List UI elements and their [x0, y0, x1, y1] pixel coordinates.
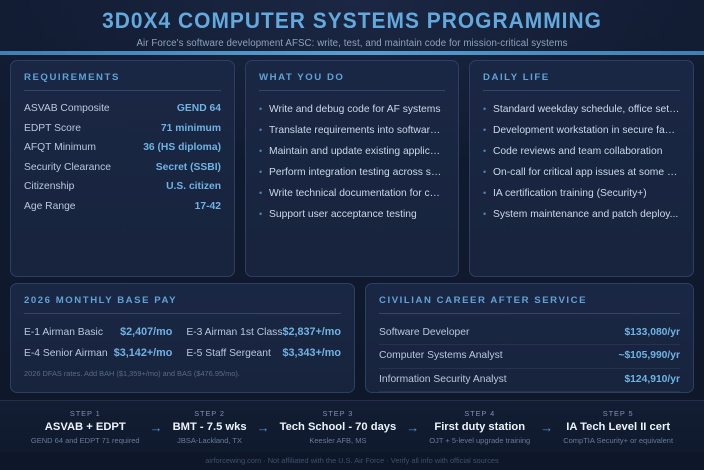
list-item-label: Perform integration testing across syste…: [269, 163, 445, 183]
step-description: GEND 64 and EDPT 71 required: [31, 435, 140, 446]
list-item-label: IA certification training (Security+): [493, 184, 647, 204]
bullet-icon: •: [259, 162, 269, 182]
step-number: STEP 4: [429, 408, 530, 419]
pay-rank-label: E-5 Staff Sergeant: [186, 343, 271, 364]
pay-amount: $3,142+/mo: [114, 343, 173, 364]
bullet-icon: •: [259, 99, 269, 119]
civilian-career-panel: CIVILIAN CAREER AFTER SERVICE Software D…: [365, 283, 694, 393]
list-item-label: On-call for critical app issues at some …: [493, 163, 680, 183]
monthly-pay-panel: 2026 MONTHLY BASE PAY E-1 Airman Basic $…: [10, 283, 355, 393]
step-description: Keesler AFB, MS: [280, 435, 397, 446]
list-item: • Perform integration testing across sys…: [259, 162, 445, 183]
step-5: STEP 5 IA Tech Level II cert CompTIA Sec…: [561, 408, 675, 446]
step-3: STEP 3 Tech School - 70 days Keesler AFB…: [278, 408, 399, 446]
top-panel-row: REQUIREMENTS ASVAB Composite GEND 64 EDP…: [10, 60, 694, 277]
requirement-value: GEND 64: [177, 99, 221, 119]
what-you-do-panel-title: WHAT YOU DO: [259, 72, 445, 90]
step-description: OJT + 5-level upgrade training: [429, 435, 530, 446]
bullet-icon: •: [483, 99, 493, 119]
list-item: • Support user acceptance testing: [259, 204, 445, 225]
bullet-icon: •: [483, 120, 493, 140]
civilian-job-label: Computer Programmer: [379, 392, 484, 393]
step-title: IA Tech Level II cert: [563, 419, 673, 435]
requirement-row: EDPT Score 71 minimum: [24, 119, 221, 139]
arrow-right-icon: →: [142, 420, 171, 436]
bullet-icon: •: [483, 183, 493, 203]
pay-amount: $2,407/mo: [120, 322, 172, 343]
panel-divider: [24, 313, 341, 314]
daily-life-panel-title: DAILY LIFE: [483, 72, 680, 90]
page-title: 3D0X4 COMPUTER SYSTEMS PROGRAMMING: [25, 8, 680, 34]
list-item: • Translate requirements into software s…: [259, 120, 445, 141]
header-accent-bar: [0, 51, 704, 55]
list-item: • Development workstation in secure faci…: [483, 120, 680, 141]
civilian-career-panel-title: CIVILIAN CAREER AFTER SERVICE: [379, 295, 680, 313]
list-item: • System maintenance and patch deploy...: [483, 204, 680, 225]
requirement-value: 17-42: [195, 197, 221, 217]
list-item: • Maintain and update existing applicati…: [259, 141, 445, 162]
bottom-panel-row: 2026 MONTHLY BASE PAY E-1 Airman Basic $…: [10, 283, 694, 393]
page-header: 3D0X4 COMPUTER SYSTEMS PROGRAMMING Air F…: [0, 0, 704, 52]
panel-divider: [24, 90, 221, 91]
daily-life-panel: DAILY LIFE • Standard weekday schedule, …: [469, 60, 694, 277]
list-item: • IA certification training (Security+): [483, 183, 680, 204]
list-item-label: Translate requirements into software sp.…: [269, 121, 445, 141]
infographic-page: 3D0X4 COMPUTER SYSTEMS PROGRAMMING Air F…: [0, 0, 704, 470]
list-item: • On-call for critical app issues at som…: [483, 162, 680, 183]
requirement-label: Security Clearance: [24, 158, 111, 178]
list-item-label: Standard weekday schedule, office settin…: [493, 100, 680, 120]
requirement-row: ASVAB Composite GEND 64: [24, 99, 221, 119]
step-title: BMT - 7.5 wks: [173, 419, 247, 435]
requirement-row: Security Clearance Secret (SSBI): [24, 158, 221, 178]
arrow-right-icon: →: [249, 420, 278, 436]
civilian-salary: $124,910/yr: [624, 369, 680, 391]
requirement-label: AFQT Minimum: [24, 138, 96, 158]
requirement-row: AFQT Minimum 36 (HS diploma): [24, 138, 221, 158]
civilian-career-row: Information Security Analyst $124,910/yr: [379, 369, 680, 392]
civilian-salary: $133,080/yr: [624, 322, 680, 344]
bullet-icon: •: [483, 162, 493, 182]
step-title: Tech School - 70 days: [280, 419, 397, 435]
civilian-salary: ~$105,990/yr: [618, 345, 680, 367]
requirement-row: Age Range 17-42: [24, 197, 221, 217]
pay-cell: E-3 Airman 1st Class $2,837+/mo: [186, 322, 341, 343]
civilian-career-row: Software Developer $133,080/yr: [379, 322, 680, 345]
step-number: STEP 2: [173, 408, 247, 419]
pay-grid: E-1 Airman Basic $2,407/mo E-3 Airman 1s…: [24, 322, 341, 364]
list-item-label: System maintenance and patch deploy...: [493, 205, 678, 225]
step-number: STEP 3: [280, 408, 397, 419]
bullet-icon: •: [259, 141, 269, 161]
civilian-job-label: Information Security Analyst: [379, 369, 507, 391]
career-path-step-bar: STEP 1 ASVAB + EDPT GEND 64 and EDPT 71 …: [0, 400, 704, 452]
bullet-icon: •: [483, 204, 493, 224]
arrow-right-icon: →: [532, 420, 561, 436]
step-description: CompTIA Security+ or equivalent: [563, 435, 673, 446]
list-item-label: Code reviews and team collaboration: [493, 142, 662, 162]
list-item: • Write technical documentation for code: [259, 183, 445, 204]
what-you-do-panel: WHAT YOU DO • Write and debug code for A…: [245, 60, 459, 277]
panel-divider: [259, 90, 445, 91]
step-4: STEP 4 First duty station OJT + 5-level …: [427, 408, 532, 446]
civilian-career-row: Computer Systems Analyst ~$105,990/yr: [379, 345, 680, 368]
page-subtitle: Air Force's software development AFSC: w…: [0, 37, 704, 51]
pay-rank-label: E-4 Senior Airman: [24, 343, 108, 364]
step-title: ASVAB + EDPT: [31, 419, 140, 435]
panel-divider: [379, 313, 680, 314]
step-description: JBSA-Lackland, TX: [173, 435, 247, 446]
step-1: STEP 1 ASVAB + EDPT GEND 64 and EDPT 71 …: [29, 408, 142, 446]
bullet-icon: •: [259, 183, 269, 203]
civilian-salary: $98,670/yr: [630, 392, 680, 393]
pay-cell: E-1 Airman Basic $2,407/mo: [24, 322, 172, 343]
pay-cell: E-5 Staff Sergeant $3,343+/mo: [186, 343, 341, 364]
pay-amount: $2,837+/mo: [282, 322, 341, 343]
list-item: • Code reviews and team collaboration: [483, 141, 680, 162]
arrow-right-icon: →: [398, 420, 427, 436]
pay-rank-label: E-1 Airman Basic: [24, 322, 103, 343]
pay-rank-label: E-3 Airman 1st Class: [186, 322, 282, 343]
list-item-label: Development workstation in secure facil.…: [493, 121, 680, 141]
requirement-value: U.S. citizen: [166, 177, 221, 197]
list-item-label: Maintain and update existing application…: [269, 142, 445, 162]
requirement-value: 71 minimum: [161, 119, 221, 139]
panel-divider: [483, 90, 680, 91]
page-footer: airforcewing.com · Not affiliated with t…: [0, 452, 704, 470]
civilian-job-label: Software Developer: [379, 322, 469, 344]
requirement-value: Secret (SSBI): [156, 158, 221, 178]
requirement-label: EDPT Score: [24, 119, 81, 139]
requirements-panel: REQUIREMENTS ASVAB Composite GEND 64 EDP…: [10, 60, 235, 277]
monthly-pay-panel-title: 2026 MONTHLY BASE PAY: [24, 295, 341, 313]
bullet-icon: •: [483, 141, 493, 161]
civilian-job-label: Computer Systems Analyst: [379, 345, 503, 367]
step-number: STEP 5: [563, 408, 673, 419]
requirement-value: 36 (HS diploma): [143, 138, 221, 158]
pay-amount: $3,343+/mo: [282, 343, 341, 364]
pay-cell: E-4 Senior Airman $3,142+/mo: [24, 343, 172, 364]
step-title: First duty station: [429, 419, 530, 435]
civilian-career-row: Computer Programmer $98,670/yr: [379, 392, 680, 393]
step-number: STEP 1: [31, 408, 140, 419]
list-item-label: Write technical documentation for code: [269, 184, 445, 204]
requirement-label: ASVAB Composite: [24, 99, 110, 119]
pay-footnote: 2026 DFAS rates. Add BAH ($1,359+/mo) an…: [24, 368, 341, 379]
requirements-panel-title: REQUIREMENTS: [24, 72, 221, 90]
requirement-label: Citizenship: [24, 177, 74, 197]
list-item-label: Support user acceptance testing: [269, 205, 417, 225]
requirement-row: Citizenship U.S. citizen: [24, 177, 221, 197]
list-item: • Write and debug code for AF systems: [259, 99, 445, 120]
step-2: STEP 2 BMT - 7.5 wks JBSA-Lackland, TX: [171, 408, 249, 446]
list-item-label: Write and debug code for AF systems: [269, 100, 441, 120]
requirement-label: Age Range: [24, 197, 76, 217]
list-item: • Standard weekday schedule, office sett…: [483, 99, 680, 120]
bullet-icon: •: [259, 204, 269, 224]
bullet-icon: •: [259, 120, 269, 140]
